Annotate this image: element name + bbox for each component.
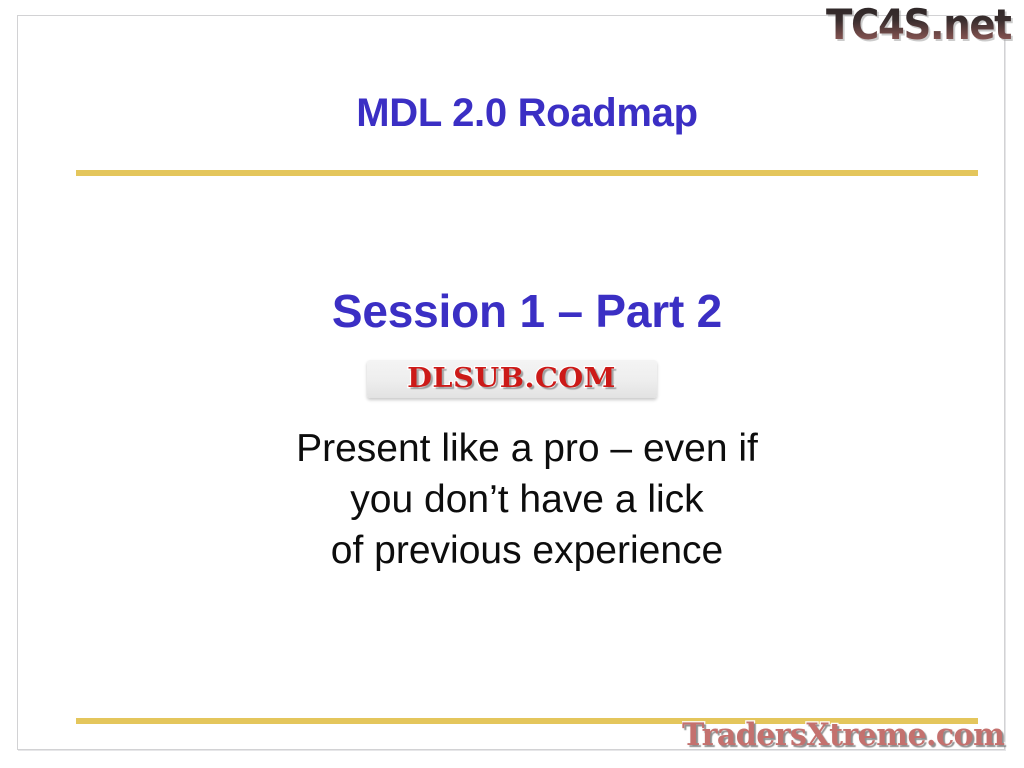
- body-paragraph: Present like a pro – even if you don’t h…: [76, 423, 978, 576]
- watermark-tradersxtreme: TradersXtreme.com: [682, 716, 1024, 760]
- divider-rule-top: [76, 170, 978, 176]
- watermark-tradersxtreme-text: TradersXtreme.com: [682, 716, 1004, 754]
- slide-canvas: MDL 2.0 Roadmap Session 1 – Part 2 Prese…: [0, 0, 1024, 768]
- body-line-3: of previous experience: [76, 525, 978, 576]
- watermark-tc4s: TC4S.net: [826, 2, 1024, 50]
- watermark-dlsub-text: DLSUB.COM: [408, 364, 617, 394]
- page-title: MDL 2.0 Roadmap: [76, 90, 978, 136]
- slide-body: Session 1 – Part 2 Present like a pro – …: [76, 201, 978, 711]
- body-line-2: you don’t have a lick: [76, 474, 978, 525]
- watermark-dlsub: DLSUB.COM: [367, 360, 657, 398]
- body-line-1: Present like a pro – even if: [76, 423, 978, 474]
- session-heading: Session 1 – Part 2: [76, 283, 978, 339]
- watermark-tc4s-text: TC4S.net: [826, 2, 1011, 48]
